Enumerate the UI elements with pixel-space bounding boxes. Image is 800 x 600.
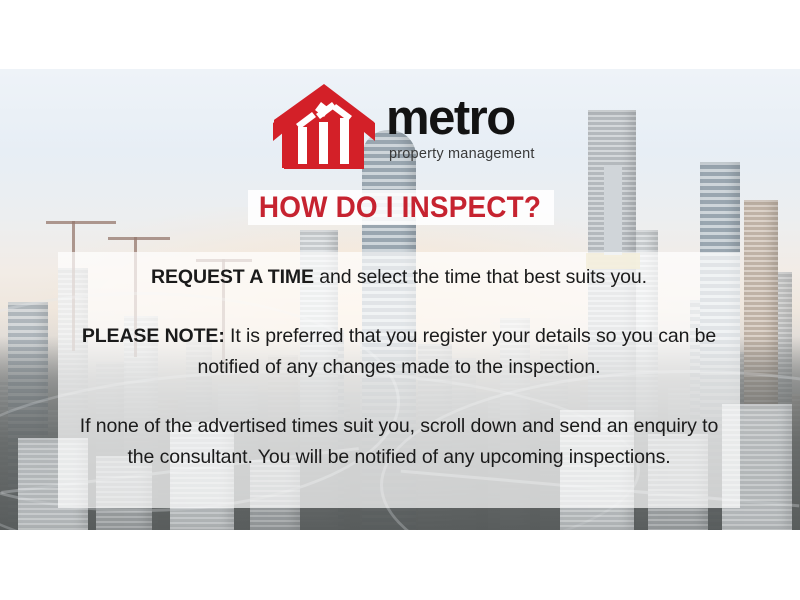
brand-tagline: property management: [389, 146, 535, 162]
paragraph-please-note: PLEASE NOTE: It is preferred that you re…: [74, 321, 724, 383]
metro-wordmark: metro property management: [386, 92, 535, 161]
metro-house-m-icon: [272, 84, 376, 170]
paragraph-enquiry: If none of the advertised times suit you…: [74, 411, 724, 473]
metro-logo: metro property management: [272, 84, 542, 170]
please-note-rest: It is preferred that you register your d…: [198, 325, 717, 378]
page-title: HOW DO I INSPECT?: [28, 191, 772, 224]
request-a-time-rest: and select the time that best suits you.: [314, 266, 647, 288]
slide-canvas: metro property management HOW DO I INSPE…: [0, 0, 800, 600]
please-note-label: PLEASE NOTE:: [82, 325, 225, 347]
request-a-time-label: REQUEST A TIME: [151, 266, 314, 288]
brand-name: metro: [386, 96, 535, 141]
paragraph-request-a-time: REQUEST A TIME and select the time that …: [74, 262, 724, 293]
body-copy: REQUEST A TIME and select the time that …: [58, 252, 740, 508]
